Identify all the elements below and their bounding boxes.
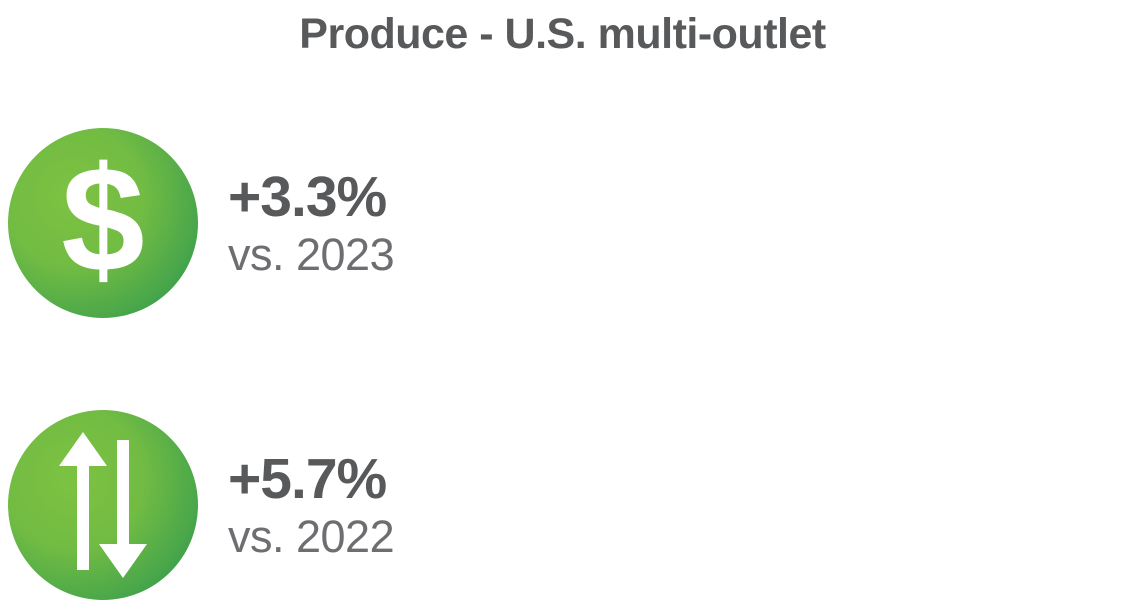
- kpi-text: +5.7% vs. 2022: [228, 451, 394, 559]
- kpi-card-change-2022-left: +5.7% vs. 2022: [0, 400, 562, 610]
- kpi-circle: [8, 410, 198, 600]
- kpi-grid: $ +3.3% vs. 2023 lbs +3.4% vs. 2023: [0, 118, 1125, 610]
- kpi-circle: $: [8, 128, 198, 318]
- kpi-card-change-2022-right: +3.7% vs. 2022: [562, 400, 1125, 610]
- kpi-value: +5.7%: [228, 451, 394, 508]
- kpi-subtitle: vs. 2022: [228, 514, 394, 559]
- kpi-icon-wrap: $: [8, 128, 198, 318]
- kpi-text: +3.3% vs. 2023: [228, 169, 394, 277]
- page-title: Produce - U.S. multi-outlet: [0, 10, 1125, 59]
- up-down-arrows-icon: [43, 430, 163, 580]
- svg-text:$: $: [61, 153, 144, 293]
- kpi-card-dollar-2023: $ +3.3% vs. 2023: [0, 118, 562, 328]
- kpi-value: +3.3%: [228, 169, 394, 226]
- kpi-subtitle: vs. 2023: [228, 232, 394, 277]
- kpi-card-weight-2023: lbs +3.4% vs. 2023: [562, 118, 1125, 328]
- kpi-icon-wrap: [8, 410, 198, 600]
- dollar-sign-icon: $: [43, 153, 163, 293]
